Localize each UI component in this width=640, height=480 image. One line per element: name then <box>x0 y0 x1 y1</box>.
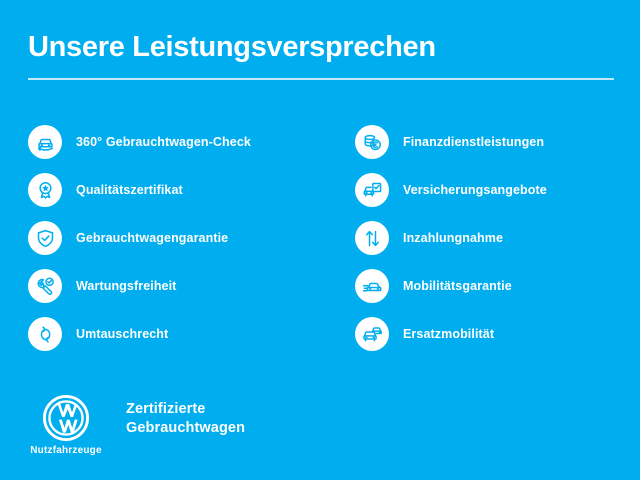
title-divider <box>28 78 614 80</box>
promises-right-column: Finanzdienstleistungen Versicherungsange… <box>355 118 640 358</box>
promise-label: Wartungsfreiheit <box>76 279 176 293</box>
promise-label: Umtauschrecht <box>76 327 168 341</box>
slide-root: Unsere Leistungsversprechen 360° Gebrauc… <box>0 0 640 480</box>
footer: Nutzfahrzeuge Zertifizierte Gebrauchtwag… <box>30 394 245 456</box>
footer-tagline-line2: Gebrauchtwagen <box>126 419 245 438</box>
promise-item-mobility-guarantee: Mobilitätsgarantie <box>355 262 640 310</box>
promise-item-exchange-right: Umtauschrecht <box>28 310 318 358</box>
promise-item-warranty: Gebrauchtwagengarantie <box>28 214 318 262</box>
shield-check-icon <box>28 221 62 255</box>
promise-label: Finanzdienstleistungen <box>403 135 544 149</box>
page-title: Unsere Leistungsversprechen <box>28 30 612 64</box>
award-rosette-icon <box>28 173 62 207</box>
promise-item-maintenance-free: Wartungsfreiheit <box>28 262 318 310</box>
promise-label: Qualitätszertifikat <box>76 183 183 197</box>
header: Unsere Leistungsversprechen <box>28 30 612 80</box>
promise-item-financial-services: Finanzdienstleistungen <box>355 118 640 166</box>
coins-euro-icon <box>355 125 389 159</box>
promise-item-360-check: 360° Gebrauchtwagen-Check <box>28 118 318 166</box>
car-360-check-icon <box>28 125 62 159</box>
car-motion-icon <box>355 269 389 303</box>
two-cars-icon <box>355 317 389 351</box>
promise-label: Inzahlungnahme <box>403 231 503 245</box>
promise-label: Gebrauchtwagengarantie <box>76 231 228 245</box>
promise-item-trade-in: Inzahlungnahme <box>355 214 640 262</box>
footer-tagline-line1: Zertifizierte <box>126 400 245 419</box>
promise-item-replacement-mobility: Ersatzmobilität <box>355 310 640 358</box>
wrench-check-icon <box>28 269 62 303</box>
promise-label: Mobilitätsgarantie <box>403 279 512 293</box>
promise-label: Ersatzmobilität <box>403 327 494 341</box>
footer-tagline: Zertifizierte Gebrauchtwagen <box>126 400 245 438</box>
promise-item-insurance-offers: Versicherungsangebote <box>355 166 640 214</box>
up-down-arrows-icon <box>355 221 389 255</box>
promises-left-column: 360° Gebrauchtwagen-Check Qualitätszerti… <box>28 118 318 358</box>
vw-logo-icon <box>42 394 90 442</box>
promise-label: 360° Gebrauchtwagen-Check <box>76 135 251 149</box>
exchange-arrows-icon <box>28 317 62 351</box>
brand-subtitle: Nutzfahrzeuge <box>30 445 102 456</box>
brand-block: Nutzfahrzeuge <box>30 394 102 456</box>
promise-label: Versicherungsangebote <box>403 183 547 197</box>
promise-item-quality-certificate: Qualitätszertifikat <box>28 166 318 214</box>
car-document-icon <box>355 173 389 207</box>
